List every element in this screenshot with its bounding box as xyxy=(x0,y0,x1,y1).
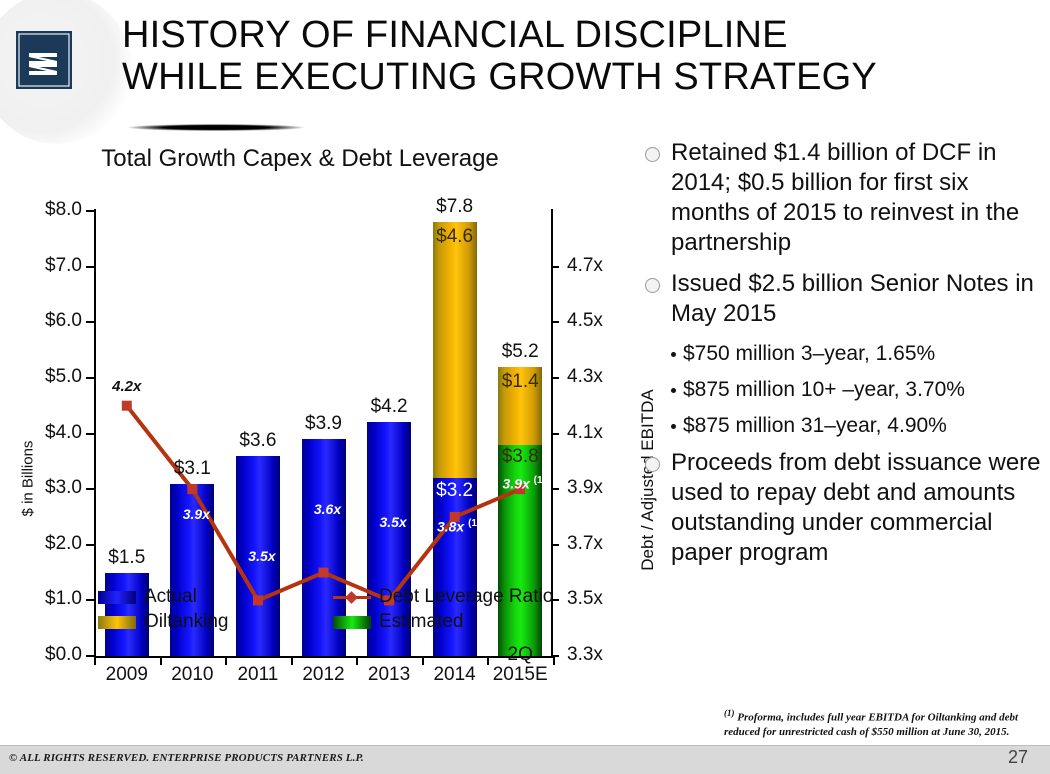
bullet-item: Issued $2.5 billion Senior Notes in May … xyxy=(645,269,1043,329)
legend-swatch-oiltanking-icon xyxy=(98,616,136,629)
footnote-marker: (1) xyxy=(724,708,735,718)
y-tick-label: $1.0 xyxy=(45,588,82,610)
legend-label-estimated: Estimated xyxy=(379,611,463,633)
legend-row: Actual Debt Leverage Ratio xyxy=(98,586,568,608)
bar-total-label-2010: $3.1 xyxy=(170,458,214,480)
title-line-2: WHILE EXECUTING GROWTH STRATEGY xyxy=(122,56,952,98)
x-axis-label-2013: 2013 xyxy=(356,664,422,686)
footnote-text: Proforma, includes full year EBITDA for … xyxy=(724,712,1018,738)
y-tick xyxy=(86,321,94,323)
slide-root: HISTORY OF FINANCIAL DISCIPLINE WHILE EX… xyxy=(0,0,1050,773)
ratio-label-2Q 2015E: 3.9x (1) xyxy=(494,475,554,492)
x-axis-label-2011: 2011 xyxy=(225,664,291,686)
ratio-label-2014: 3.8x (1) xyxy=(429,518,489,535)
y-tick-label: $2.0 xyxy=(45,533,82,555)
x-axis-label-2014: 2014 xyxy=(422,664,488,686)
y-tick-label: $5.0 xyxy=(45,366,82,388)
y-axis-label: $ in Billions xyxy=(20,399,37,559)
segment-label-2014-oiltanking: $4.6 xyxy=(433,226,477,248)
sub-bullet-item: $750 million 3–year, 1.65% xyxy=(671,340,1043,368)
legend-label-oiltanking: Oiltanking xyxy=(144,611,229,633)
x-axis-label-2012: 2012 xyxy=(291,664,357,686)
legend-item-oiltanking[interactable]: Oiltanking xyxy=(98,611,333,633)
segment-label-2015E-oiltanking: $1.4 xyxy=(498,371,542,393)
footnote: (1) Proforma, includes full year EBITDA … xyxy=(724,706,1044,739)
bullet-item: Proceeds from debt issuance were used to… xyxy=(645,448,1043,568)
bar-total-label-2011: $3.6 xyxy=(236,430,280,452)
bullet-text: Proceeds from debt issuance were used to… xyxy=(671,448,1043,568)
x-axis-label-2Q 2015E: 2Q2015E xyxy=(487,645,553,686)
ratio-label-2011: 3.5x xyxy=(232,548,292,564)
title-line-1: HISTORY OF FINANCIAL DISCIPLINE xyxy=(122,14,952,56)
bullet-circle-icon xyxy=(645,457,660,472)
sub-bullet-item: $875 million 31–year, 4.90% xyxy=(671,412,1043,440)
chart-legend: Actual Debt Leverage Ratio Oiltanking Es… xyxy=(98,586,568,636)
legend-item-debt-leverage-ratio[interactable]: Debt Leverage Ratio xyxy=(333,586,568,608)
sub-bullet-text: $750 million 3–year, 1.65% xyxy=(683,340,935,368)
y-tick xyxy=(86,433,94,435)
title-divider xyxy=(128,124,304,131)
ratio-label-2013: 3.5x xyxy=(363,514,423,530)
ratio-label-2010: 3.9x xyxy=(166,506,226,522)
bullet-circle-icon xyxy=(645,147,660,162)
y2-tick-label: 3.5x xyxy=(567,588,603,610)
y2-tick-label: 4.1x xyxy=(567,422,603,444)
legend-label-actual: Actual xyxy=(144,586,197,608)
page-number: 27 xyxy=(1008,747,1028,768)
y2-tick-label: 4.7x xyxy=(567,255,603,277)
bullet-text: Issued $2.5 billion Senior Notes in May … xyxy=(671,269,1043,329)
y-tick-label: $7.0 xyxy=(45,255,82,277)
x-tick xyxy=(553,656,555,665)
x-axis-label-2010: 2010 xyxy=(160,664,226,686)
y-tick xyxy=(86,544,94,546)
y-tick-label: $6.0 xyxy=(45,310,82,332)
ratio-label-2012: 3.6x xyxy=(298,501,358,517)
bar-total-label-2014: $7.8 xyxy=(433,196,477,218)
y-tick-label: $4.0 xyxy=(45,422,82,444)
sub-bullet-dot-icon xyxy=(671,424,676,429)
legend-swatch-line-icon xyxy=(333,590,371,604)
bullet-list: Retained $1.4 billion of DCF in 2014; $0… xyxy=(645,138,1043,579)
bar-total-label-2012: $3.9 xyxy=(302,413,346,435)
y-tick xyxy=(86,655,94,657)
legend-item-estimated[interactable]: Estimated xyxy=(333,611,568,633)
segment-label-2015E-estimated: $3.8 xyxy=(498,446,542,468)
line-marker-2009[interactable] xyxy=(122,401,132,411)
chart-title: Total Growth Capex & Debt Leverage xyxy=(0,145,600,173)
y2-tick-label: 3.7x xyxy=(567,533,603,555)
y-tick xyxy=(86,488,94,490)
y-tick xyxy=(86,599,94,601)
sub-bullet-item: $875 million 10+ –year, 3.70% xyxy=(671,376,1043,404)
legend-swatch-estimated-icon xyxy=(333,616,371,629)
legend-swatch-actual-icon xyxy=(98,591,136,604)
sub-bullet-dot-icon xyxy=(671,352,676,357)
sub-bullet-dot-icon xyxy=(671,388,676,393)
y2-tick-label: 4.5x xyxy=(567,310,603,332)
line-marker-2012[interactable] xyxy=(319,568,329,578)
y-tick-label: $3.0 xyxy=(45,477,82,499)
y2-tick-label: 4.3x xyxy=(567,366,603,388)
bullet-text: Retained $1.4 billion of DCF in 2014; $0… xyxy=(671,138,1043,258)
bullet-circle-icon xyxy=(645,278,660,293)
chart-container: Total Growth Capex & Debt Leverage $ in … xyxy=(0,140,640,750)
y-tick xyxy=(86,377,94,379)
enterprise-products-logo xyxy=(16,31,72,89)
y2-tick-label: 3.9x xyxy=(567,477,603,499)
legend-row: Oiltanking Estimated xyxy=(98,611,568,633)
footer-copyright: © ALL RIGHTS RESERVED. ENTERPRISE PRODUC… xyxy=(9,752,364,764)
page-title: HISTORY OF FINANCIAL DISCIPLINE WHILE EX… xyxy=(122,14,952,98)
y-tick xyxy=(86,266,94,268)
x-axis-label-2009: 2009 xyxy=(94,664,160,686)
legend-item-actual[interactable]: Actual xyxy=(98,586,333,608)
y-tick-label: $0.0 xyxy=(45,644,82,666)
y-tick xyxy=(86,210,94,212)
segment-label-2014-actual: $3.2 xyxy=(433,480,477,502)
line-marker-2010[interactable] xyxy=(187,484,197,494)
bullet-item: Retained $1.4 billion of DCF in 2014; $0… xyxy=(645,138,1043,258)
ratio-label-2009: 4.2x xyxy=(101,378,153,395)
bar-total-label-2013: $4.2 xyxy=(367,396,411,418)
legend-label-debt-leverage-ratio: Debt Leverage Ratio xyxy=(379,586,553,608)
y2-tick-label: 3.3x xyxy=(567,644,603,666)
bar-total-label-2Q 2015E: $5.2 xyxy=(498,341,542,363)
sub-bullet-text: $875 million 10+ –year, 3.70% xyxy=(683,376,965,404)
sub-bullet-text: $875 million 31–year, 4.90% xyxy=(683,412,947,440)
y-tick-label: $8.0 xyxy=(45,199,82,221)
bar-total-label-2009: $1.5 xyxy=(105,547,149,569)
